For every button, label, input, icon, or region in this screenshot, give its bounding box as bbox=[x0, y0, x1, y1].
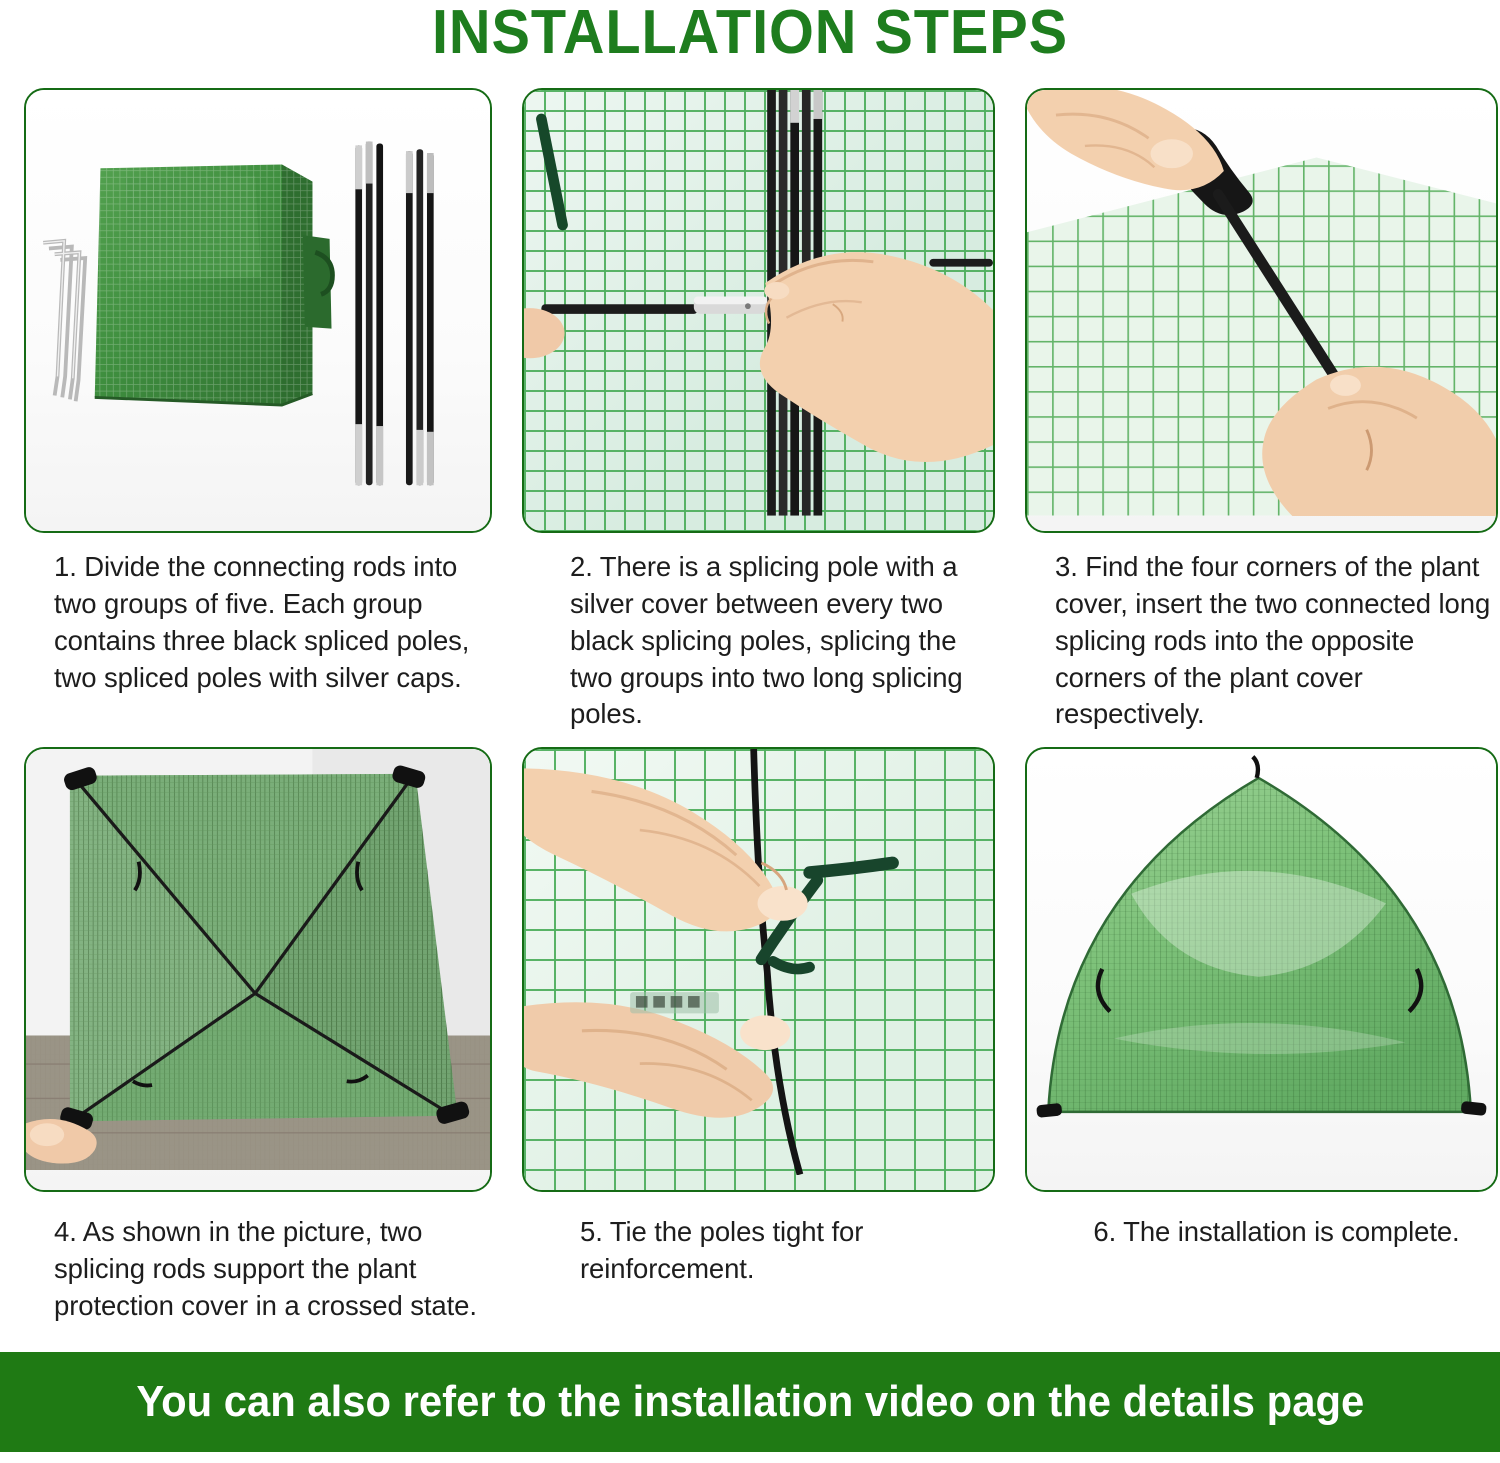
step-5: 5. Tie the poles tight for reinforcement… bbox=[510, 733, 1005, 1325]
step-1-caption: 1. Divide the connecting rods into two g… bbox=[12, 533, 502, 696]
step-2: 2. There is a splicing pole with a silve… bbox=[510, 74, 1005, 733]
step-2-caption: 2. There is a splicing pole with a silve… bbox=[510, 533, 1005, 733]
step-6-photo bbox=[1025, 747, 1498, 1192]
page-title: INSTALLATION STEPS bbox=[53, 0, 1448, 74]
step-6-caption: 6. The installation is complete. bbox=[1013, 1192, 1500, 1251]
insert-rod-into-corner-graphic bbox=[1027, 90, 1496, 516]
step-6: 6. The installation is complete. bbox=[1013, 733, 1500, 1325]
step-3-photo bbox=[1025, 88, 1498, 533]
banner-text: You can also refer to the installation v… bbox=[136, 1377, 1364, 1427]
black-rod-bundles-icon bbox=[26, 90, 490, 511]
step-3-caption: 3. Find the four corners of the plant co… bbox=[1013, 533, 1500, 733]
installation-steps-grid: 1. Divide the connecting rods into two g… bbox=[0, 74, 1500, 1325]
step-1: 1. Divide the connecting rods into two g… bbox=[12, 74, 502, 733]
tying-strap-graphic bbox=[524, 749, 993, 1175]
step-5-caption: 5. Tie the poles tight for reinforcement… bbox=[510, 1192, 1005, 1288]
step-4-caption: 4. As shown in the picture, two splicing… bbox=[12, 1192, 502, 1325]
step-3: 3. Find the four corners of the plant co… bbox=[1013, 74, 1500, 733]
completed-tent-graphic bbox=[1027, 749, 1496, 1175]
step-1-photo bbox=[24, 88, 492, 533]
step-4: 4. As shown in the picture, two splicing… bbox=[12, 733, 502, 1325]
step-2-photo bbox=[522, 88, 995, 533]
crossed-rods-cover-graphic bbox=[26, 749, 490, 1170]
video-reference-banner: You can also refer to the installation v… bbox=[0, 1352, 1500, 1452]
step-4-photo bbox=[24, 747, 492, 1192]
step-5-photo bbox=[522, 747, 995, 1192]
splicing-rods-and-hand-graphic bbox=[524, 90, 993, 516]
